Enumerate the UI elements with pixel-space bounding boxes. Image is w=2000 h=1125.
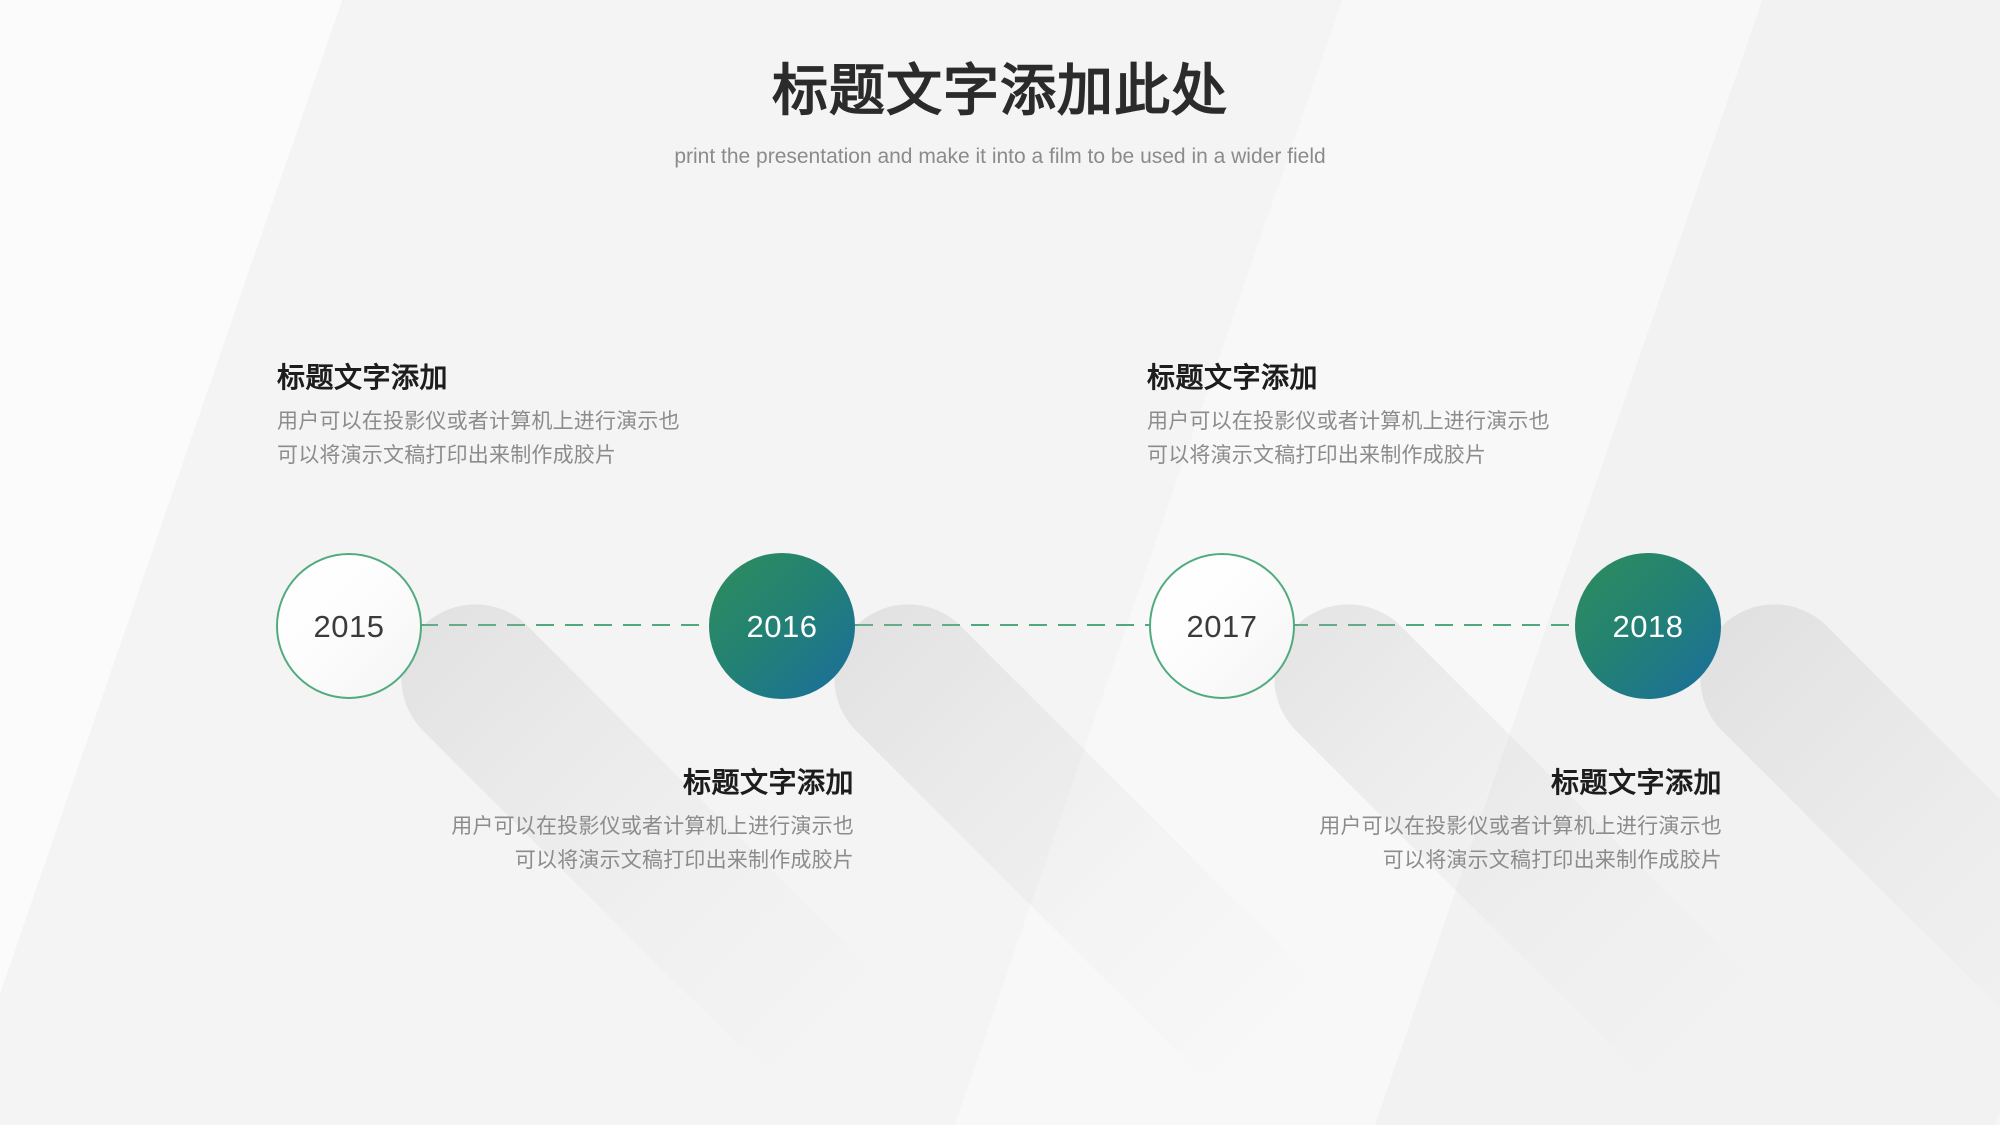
timeline-node-2016[interactable]: 2016 xyxy=(709,553,855,699)
timeline-text-title: 标题文字添加 xyxy=(1147,360,1647,395)
timeline-node-year: 2015 xyxy=(314,611,385,642)
timeline-text-body-line1: 用户可以在投影仪或者计算机上进行演示也 xyxy=(277,405,777,439)
timeline-text-body-line2: 可以将演示文稿打印出来制作成胶片 xyxy=(1147,439,1647,473)
timeline-node-2017[interactable]: 2017 xyxy=(1149,553,1295,699)
timeline-text-body-line1: 用户可以在投影仪或者计算机上进行演示也 xyxy=(1147,405,1647,439)
timeline: 2015 2016 2017 2018 标题文字添加 用户可以在投影仪或者计算机… xyxy=(0,0,2000,1125)
timeline-text-title: 标题文字添加 xyxy=(1222,765,1722,800)
timeline-text-body-line1: 用户可以在投影仪或者计算机上进行演示也 xyxy=(1222,810,1722,844)
timeline-node-year: 2018 xyxy=(1613,611,1684,642)
timeline-node-2015[interactable]: 2015 xyxy=(276,553,422,699)
timeline-node-year: 2017 xyxy=(1187,611,1258,642)
timeline-dashed-connector xyxy=(420,624,1580,626)
timeline-text-body-line2: 可以将演示文稿打印出来制作成胶片 xyxy=(277,439,777,473)
timeline-node-year: 2016 xyxy=(747,611,818,642)
timeline-text-body-line1: 用户可以在投影仪或者计算机上进行演示也 xyxy=(354,810,854,844)
timeline-text-title: 标题文字添加 xyxy=(354,765,854,800)
slide-canvas: 标题文字添加此处 print the presentation and make… xyxy=(0,0,2000,1125)
timeline-text-2017: 标题文字添加 用户可以在投影仪或者计算机上进行演示也 可以将演示文稿打印出来制作… xyxy=(1147,360,1647,473)
timeline-text-2015: 标题文字添加 用户可以在投影仪或者计算机上进行演示也 可以将演示文稿打印出来制作… xyxy=(277,360,777,473)
timeline-text-body-line2: 可以将演示文稿打印出来制作成胶片 xyxy=(1222,844,1722,878)
timeline-text-body-line2: 可以将演示文稿打印出来制作成胶片 xyxy=(354,844,854,878)
timeline-text-2016: 标题文字添加 用户可以在投影仪或者计算机上进行演示也 可以将演示文稿打印出来制作… xyxy=(354,765,854,878)
timeline-text-title: 标题文字添加 xyxy=(277,360,777,395)
timeline-node-2018[interactable]: 2018 xyxy=(1575,553,1721,699)
timeline-text-2018: 标题文字添加 用户可以在投影仪或者计算机上进行演示也 可以将演示文稿打印出来制作… xyxy=(1222,765,1722,878)
